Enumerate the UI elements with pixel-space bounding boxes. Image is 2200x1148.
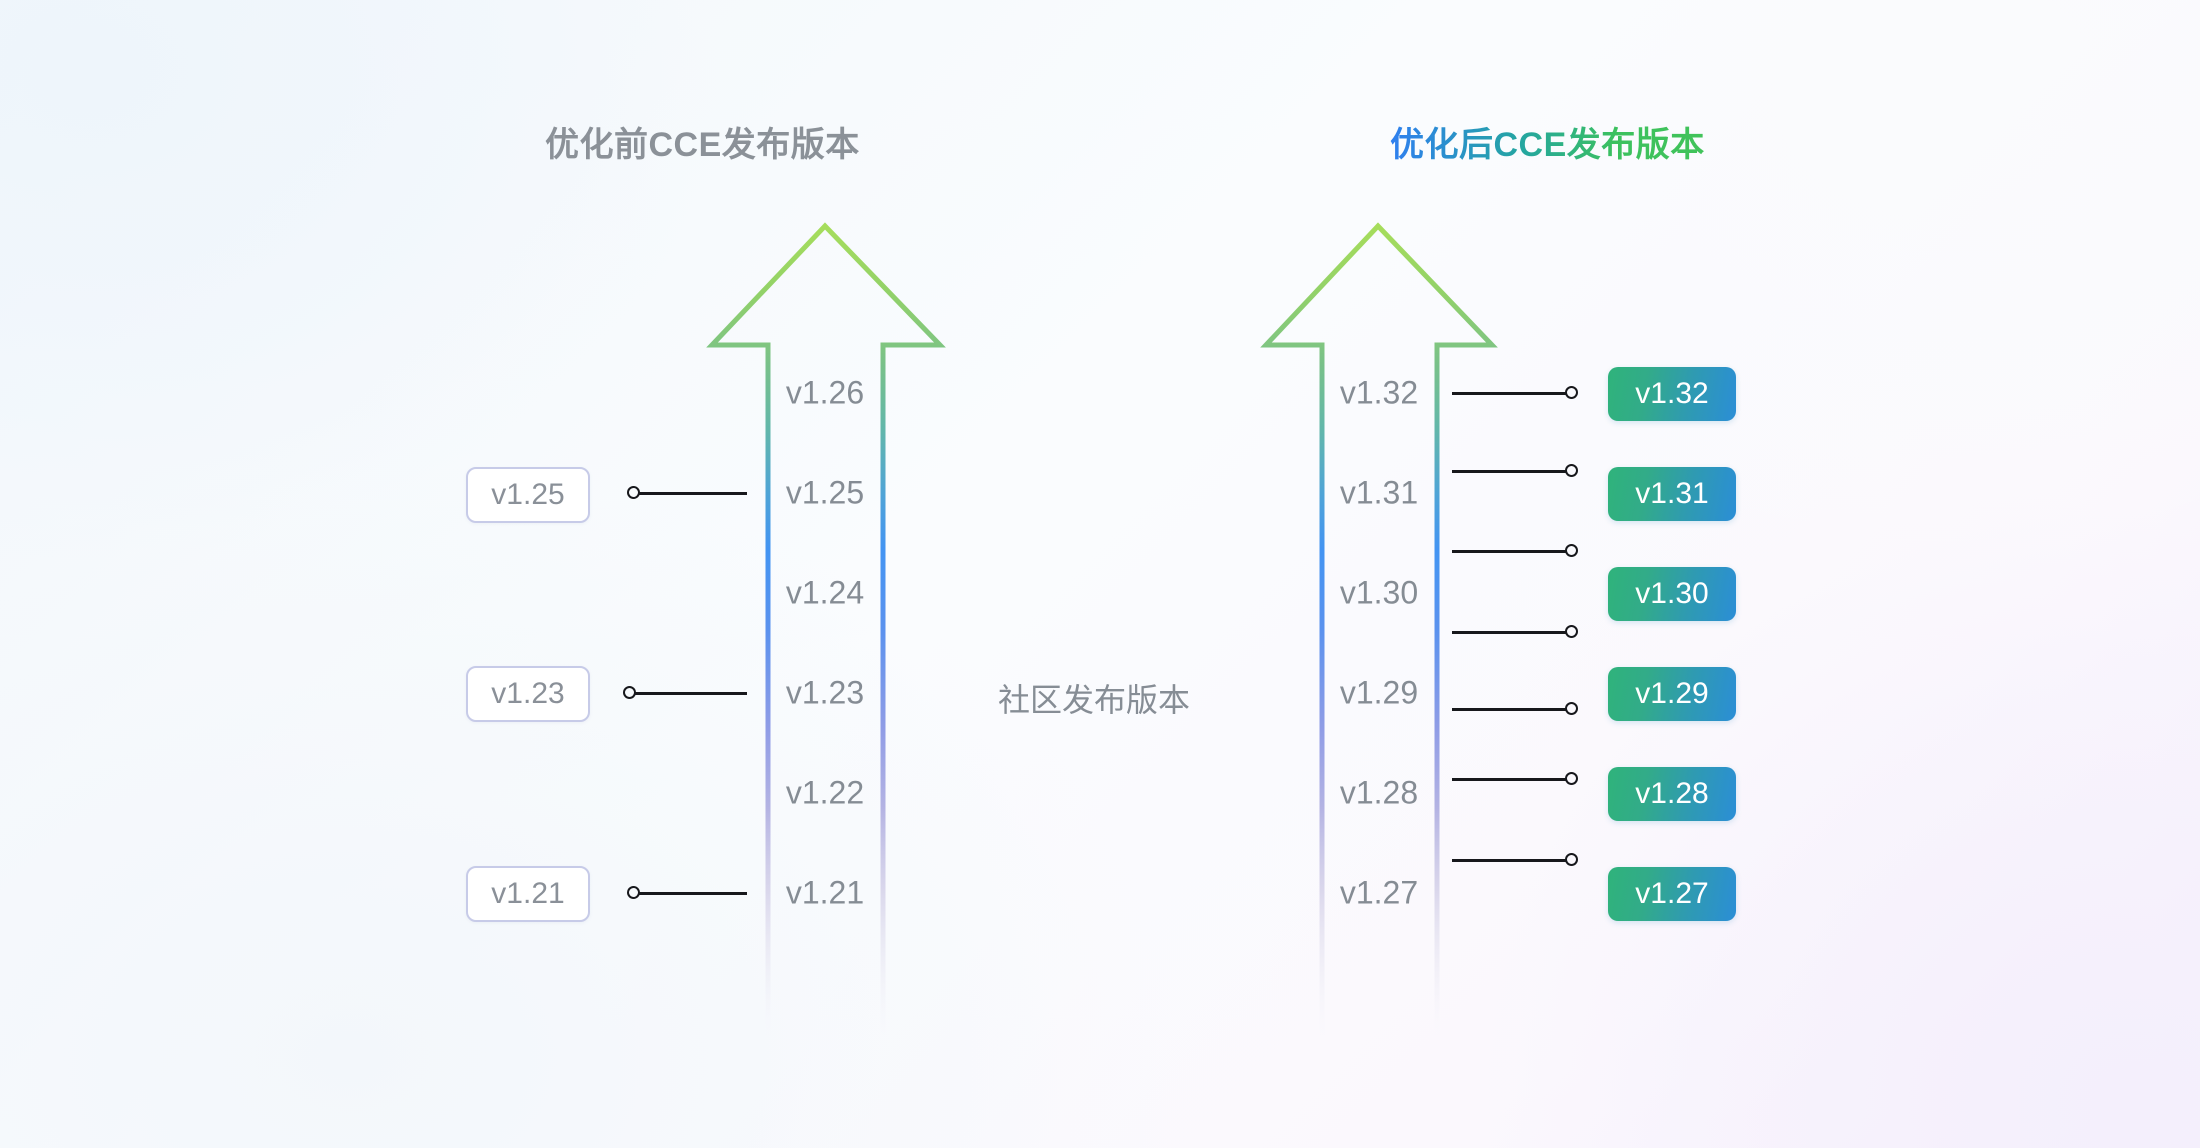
- right-connector-line: [1452, 769, 1578, 789]
- connector-dot-icon: [1565, 853, 1578, 866]
- left-version-box[interactable]: v1.21: [466, 866, 590, 922]
- connector-dot-icon: [1565, 386, 1578, 399]
- left-section-title: 优化前CCE发布版本: [545, 117, 860, 166]
- connector-dot-icon: [1565, 625, 1578, 638]
- connector-dot-icon: [1565, 464, 1578, 477]
- left-connector-line: [623, 683, 747, 703]
- connector-bar: [1452, 631, 1567, 634]
- connector-dot-icon: [1565, 772, 1578, 785]
- connector-dot-icon: [1565, 702, 1578, 715]
- connector-bar: [1452, 470, 1567, 473]
- center-caption: 社区发布版本: [998, 675, 1190, 721]
- diagram-canvas: 优化前CCE发布版本 优化后CCE发布版本: [0, 0, 2200, 1148]
- right-version-badge[interactable]: v1.31: [1608, 467, 1736, 521]
- right-section-title: 优化后CCE发布版本: [1390, 117, 1705, 166]
- left-inner-version-label: v1.24: [765, 575, 885, 612]
- connector-bar: [1452, 778, 1567, 781]
- right-arrow-outline: [1266, 226, 1492, 1035]
- connector-bar: [1452, 859, 1567, 862]
- left-connector-line: [627, 483, 747, 503]
- right-version-badge[interactable]: v1.29: [1608, 667, 1736, 721]
- connector-dot-icon: [627, 486, 640, 499]
- connector-dot-icon: [1565, 544, 1578, 557]
- right-inner-version-label: v1.30: [1319, 575, 1439, 612]
- connector-bar: [1452, 392, 1567, 395]
- right-version-badge[interactable]: v1.27: [1608, 867, 1736, 921]
- right-inner-version-label: v1.29: [1319, 675, 1439, 712]
- right-inner-version-label: v1.27: [1319, 875, 1439, 912]
- right-inner-version-label: v1.31: [1319, 475, 1439, 512]
- left-version-box[interactable]: v1.25: [466, 467, 590, 523]
- right-version-badge[interactable]: v1.28: [1608, 767, 1736, 821]
- connector-bar: [634, 692, 747, 695]
- right-connector-line: [1452, 461, 1578, 481]
- right-connector-line: [1452, 541, 1578, 561]
- connector-bar: [1452, 550, 1567, 553]
- right-connector-line: [1452, 622, 1578, 642]
- connector-dot-icon: [623, 686, 636, 699]
- connector-dot-icon: [627, 886, 640, 899]
- left-version-box[interactable]: v1.23: [466, 666, 590, 722]
- connector-bar: [638, 492, 747, 495]
- left-inner-version-label: v1.21: [765, 875, 885, 912]
- right-inner-version-label: v1.32: [1319, 375, 1439, 412]
- arrow-graphics: [0, 0, 2200, 1148]
- connector-bar: [1452, 708, 1567, 711]
- right-connector-line: [1452, 699, 1578, 719]
- left-inner-version-label: v1.26: [765, 375, 885, 412]
- left-inner-version-label: v1.25: [765, 475, 885, 512]
- right-inner-version-label: v1.28: [1319, 775, 1439, 812]
- left-connector-line: [627, 883, 747, 903]
- connector-bar: [638, 892, 747, 895]
- right-version-badge[interactable]: v1.30: [1608, 567, 1736, 621]
- right-version-badge[interactable]: v1.32: [1608, 367, 1736, 421]
- left-inner-version-label: v1.22: [765, 775, 885, 812]
- right-connector-line: [1452, 383, 1578, 403]
- left-inner-version-label: v1.23: [765, 675, 885, 712]
- right-connector-line: [1452, 850, 1578, 870]
- left-arrow-outline: [712, 226, 940, 1035]
